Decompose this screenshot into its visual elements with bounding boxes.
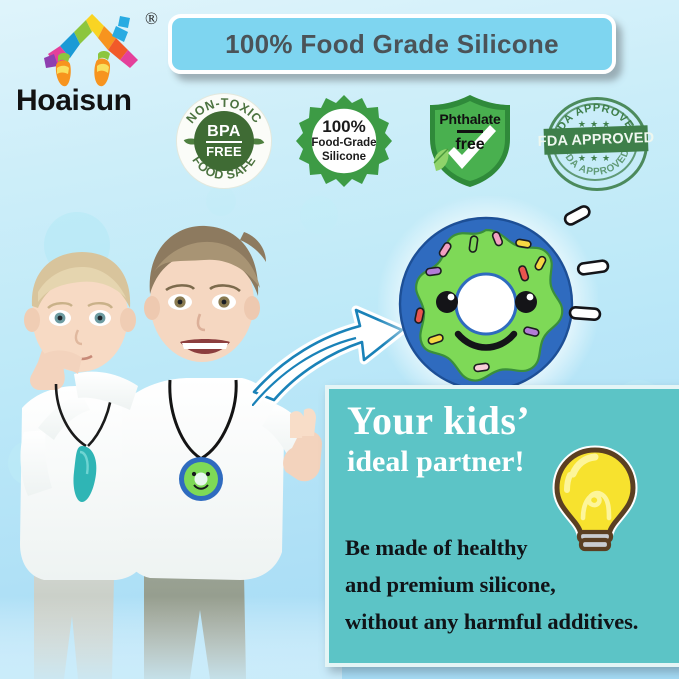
body-line-2: and premium silicone, xyxy=(345,566,679,603)
bpa-free-core: BPA FREE xyxy=(194,111,254,171)
product-infographic: ® Hoaisun 100% Food Grade Silicone NON-T… xyxy=(0,0,679,679)
sparkle-shine-icon xyxy=(556,204,626,334)
fda-approved-bar: FDA APPROVED xyxy=(544,125,649,155)
food-grade-text: Food-Grade xyxy=(311,136,376,150)
free-text: FREE xyxy=(206,145,242,158)
food-grade-label: 100% Food-Grade Silicone xyxy=(296,93,392,189)
divider xyxy=(206,141,242,143)
brand-name: Hoaisun xyxy=(16,86,172,116)
donut-chew-pendant-icon xyxy=(398,216,574,392)
fda-approved-stamp-icon: FDA APPROVED FDA APPROVED ★★★ ★★★ FDA AP… xyxy=(544,93,648,189)
free-text: free xyxy=(420,136,520,153)
body-line-3: without any harmful additives. xyxy=(345,603,679,640)
percent-text: 100% xyxy=(322,118,365,136)
kids-photo xyxy=(0,196,342,679)
stamp-stars: ★★★ xyxy=(544,153,648,164)
bpa-free-badge-icon: NON-TOXIC FOOD SAFE BPA FREE xyxy=(176,93,272,189)
brand-logo: ® Hoaisun xyxy=(14,6,174,116)
headline-banner: 100% Food Grade Silicone xyxy=(168,14,616,74)
headline-line-1: Your kids’ xyxy=(347,399,577,443)
divider xyxy=(457,130,483,133)
lightbulb-icon xyxy=(543,444,647,554)
house-arch-mosaic-logo-icon xyxy=(36,10,146,88)
silicone-text: Silicone xyxy=(322,150,366,164)
phthalate-free-shield-icon: Phthalate free xyxy=(420,93,520,189)
phthalate-free-label: Phthalate free xyxy=(420,111,520,153)
food-grade-silicone-badge-icon: 100% Food-Grade Silicone xyxy=(296,93,392,189)
registered-trademark-symbol: ® xyxy=(145,9,158,29)
bpa-text: BPA xyxy=(207,124,241,139)
certification-badges: NON-TOXIC FOOD SAFE BPA FREE 10 xyxy=(176,93,664,191)
fda-approved-text: FDA APPROVED xyxy=(537,130,654,150)
headline-banner-text: 100% Food Grade Silicone xyxy=(225,29,559,60)
phthalate-text: Phthalate xyxy=(420,111,520,127)
